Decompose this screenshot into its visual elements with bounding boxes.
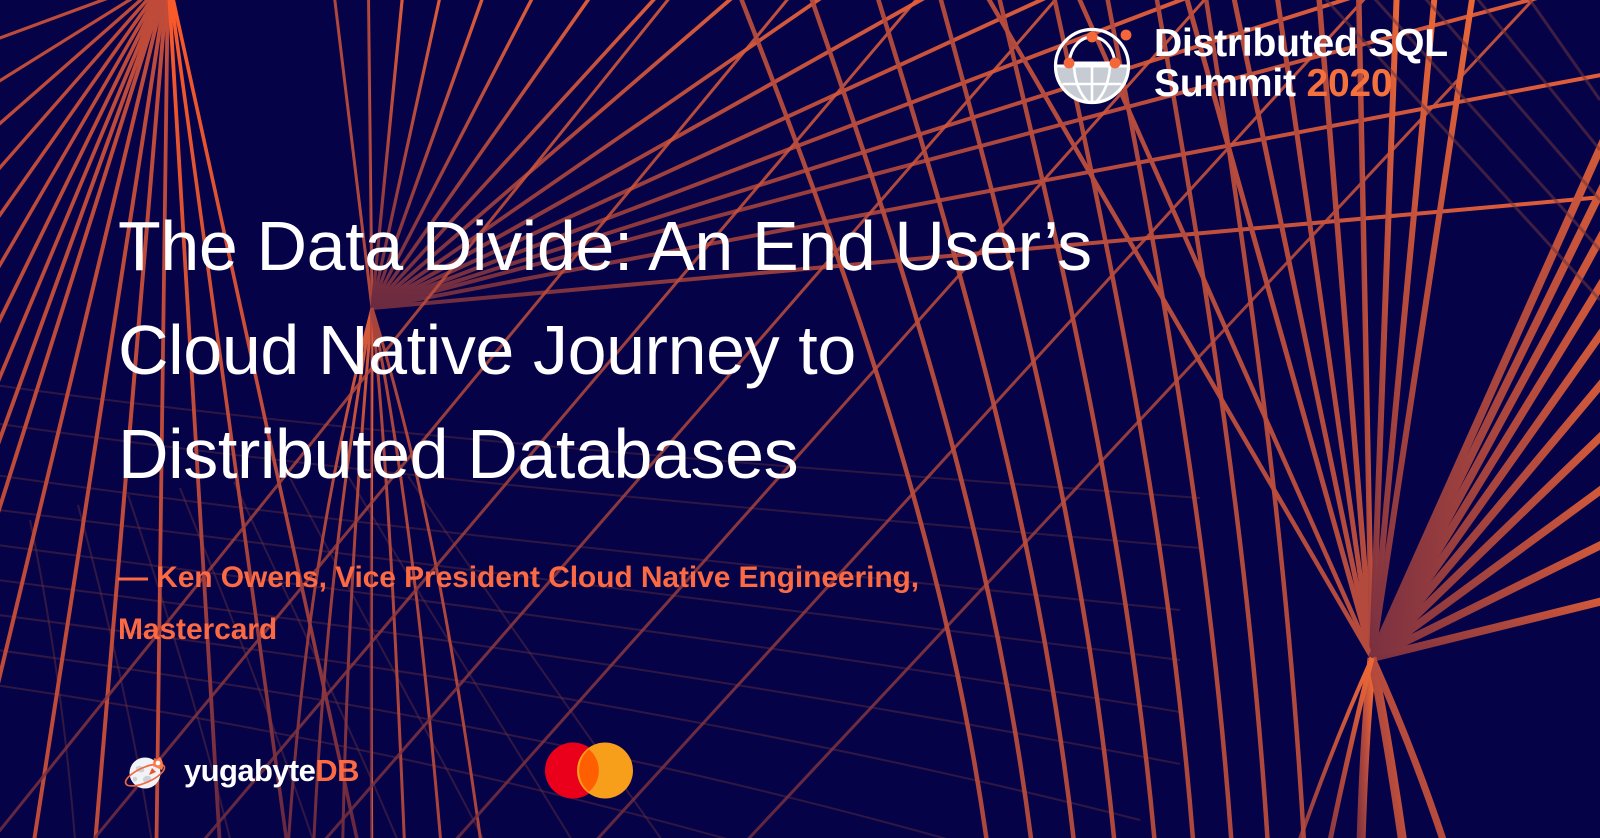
yugabyte-db-suffix: DB bbox=[315, 753, 359, 788]
mastercard-circles-icon bbox=[543, 742, 635, 799]
yugabyte-planet-rocket-icon bbox=[122, 746, 172, 796]
summit-title-line-1: Distributed SQL bbox=[1154, 24, 1448, 64]
speaker-line-1: — Ken Owens, Vice President Cloud Native… bbox=[118, 552, 1178, 604]
speaker-attribution: — Ken Owens, Vice President Cloud Native… bbox=[118, 552, 1178, 656]
summit-logo-lockup: Distributed SQL Summit 2020 bbox=[1050, 22, 1448, 106]
yugabyte-wordmark: yugabyteDB bbox=[184, 753, 359, 789]
distributed-sql-globe-icon bbox=[1050, 22, 1134, 106]
speaker-line-2: Mastercard bbox=[118, 604, 1178, 656]
yugabyte-name: yugabyte bbox=[184, 753, 315, 788]
title-line-1: The Data Divide: An End User’s bbox=[118, 194, 1238, 298]
footer-logo-row: yugabyteDB bbox=[122, 742, 635, 799]
summit-wordmark: Distributed SQL Summit 2020 bbox=[1154, 24, 1448, 104]
title-slide: Distributed SQL Summit 2020 The Data Div… bbox=[0, 0, 1600, 838]
title-line-2: Cloud Native Journey to bbox=[118, 298, 1238, 402]
page-title: The Data Divide: An End User’s Cloud Nat… bbox=[118, 194, 1238, 506]
summit-title-line-2: Summit 2020 bbox=[1154, 64, 1448, 104]
summit-year: 2020 bbox=[1306, 62, 1392, 105]
yugabytedb-logo: yugabyteDB bbox=[122, 746, 359, 796]
summit-title-summit-text: Summit bbox=[1154, 62, 1306, 105]
title-line-3: Distributed Databases bbox=[118, 402, 1238, 506]
